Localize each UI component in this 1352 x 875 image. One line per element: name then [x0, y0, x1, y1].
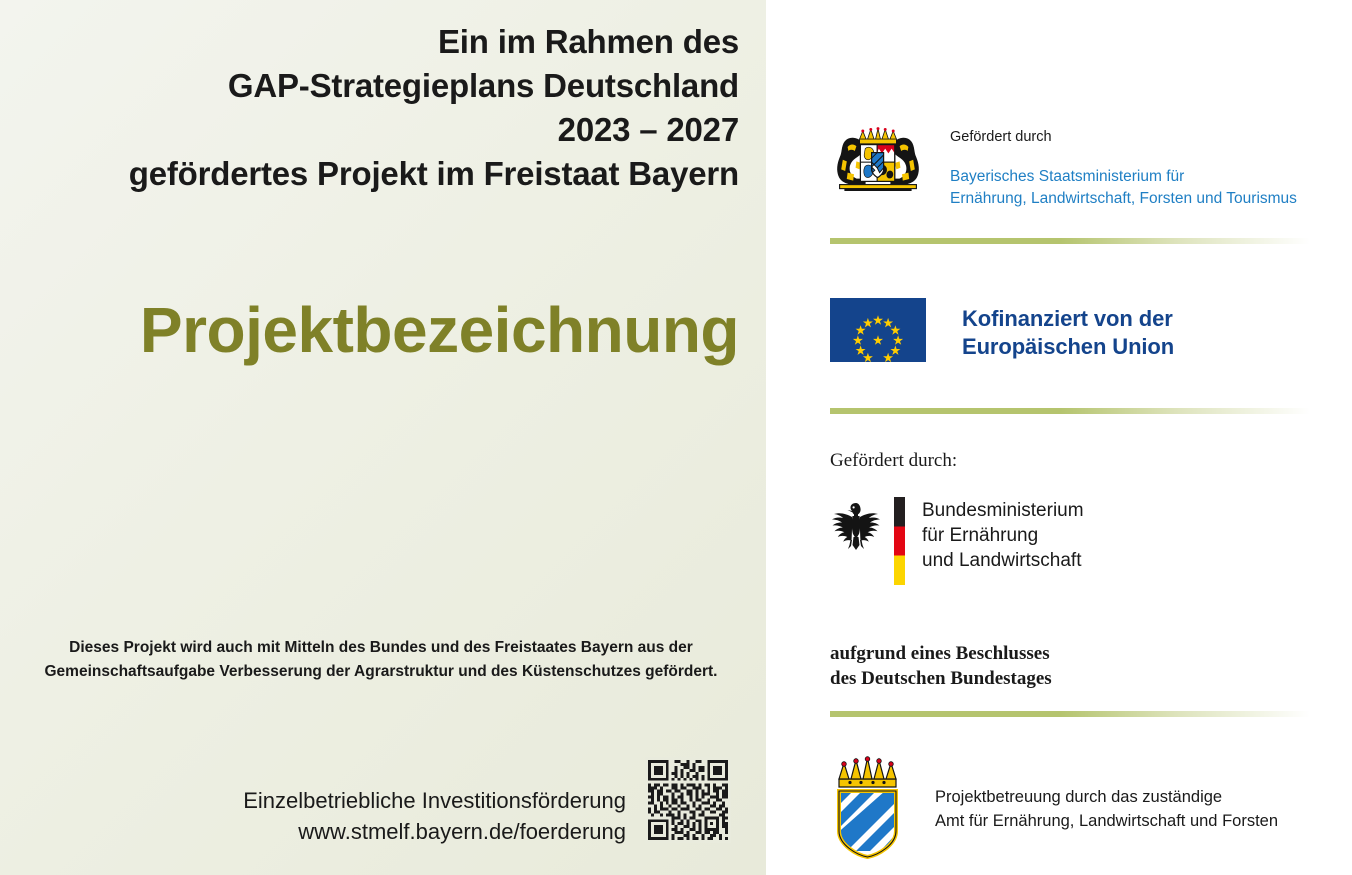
funding-block-stmelf: Gefördert durch Bayerisches Staatsminist… [830, 126, 1297, 210]
german-flag-bar-icon [894, 497, 905, 585]
aelf-text-line-2: Amt für Ernährung, Landwirtschaft und Fo… [935, 810, 1278, 834]
bmel-name: Bundesministerium für Ernährung und Land… [922, 497, 1084, 573]
fineprint-line-2: Gemeinschaftsaufgabe Verbesserung der Ag… [20, 660, 742, 684]
divider-1 [830, 238, 1310, 244]
funding-block-eu: Kofinanziert von der Europäischen Union [830, 298, 1174, 362]
bmel-footnote-line-2: des Deutschen Bundestages [830, 666, 1052, 691]
headline-line-3: 2023 – 2027 [39, 108, 739, 152]
bmel-funded-by-label: Gefördert durch: [830, 450, 957, 472]
divider-2 [830, 408, 1310, 414]
fineprint-line-1: Dieses Projekt wird auch mit Mitteln des… [20, 636, 742, 660]
bmel-name-line-1: Bundesministerium [922, 498, 1084, 523]
stmelf-name-line-1: Bayerisches Staatsministerium für [950, 166, 1297, 188]
bmel-name-line-2: für Ernährung [922, 523, 1084, 548]
stmelf-name-line-2: Ernährung, Landwirtschaft, Forsten und T… [950, 188, 1297, 210]
aelf-text: Projektbetreuung durch das zuständige Am… [935, 786, 1278, 834]
bmel-footnote-line-1: aufgrund eines Beschlusses [830, 641, 1052, 666]
aelf-text-line-1: Projektbetreuung durch das zuständige [935, 786, 1278, 810]
headline: Ein im Rahmen des GAP-Strategieplans Deu… [39, 20, 739, 196]
bayerisches-wappen-icon [830, 755, 905, 864]
headline-line-4: gefördertes Projekt im Freistaat Bayern [39, 152, 739, 196]
poster: Ein im Rahmen des GAP-Strategieplans Deu… [0, 0, 1352, 875]
stmelf-text: Gefördert durch Bayerisches Staatsminist… [950, 126, 1297, 210]
fineprint: Dieses Projekt wird auch mit Mitteln des… [20, 636, 742, 684]
funding-block-bmel: Bundesministerium für Ernährung und Land… [830, 497, 1084, 585]
page-title: Projektbezeichnung [19, 295, 739, 365]
programme-label: Einzelbetriebliche Investitionsförderung [30, 785, 626, 816]
eu-text-line-1: Kofinanziert von der [962, 305, 1174, 333]
bmel-footnote: aufgrund eines Beschlusses des Deutschen… [830, 641, 1052, 691]
funded-by-label: Gefördert durch [950, 129, 1297, 146]
eu-text-line-2: Europäischen Union [962, 333, 1174, 361]
headline-line-1: Ein im Rahmen des [39, 20, 739, 64]
headline-line-2: GAP-Strategieplans Deutschland [39, 64, 739, 108]
eu-flag-icon [830, 298, 926, 362]
bayerisches-staatswappen-icon [830, 126, 926, 197]
eu-text: Kofinanziert von der Europäischen Union [962, 298, 1174, 361]
website-url[interactable]: www.stmelf.bayern.de/foerderung [30, 816, 626, 847]
right-panel: Gefördert durch Bayerisches Staatsminist… [766, 0, 1352, 875]
bundesadler-icon [830, 497, 882, 560]
left-panel: Ein im Rahmen des GAP-Strategieplans Deu… [0, 0, 766, 875]
bmel-name-line-3: und Landwirtschaft [922, 548, 1084, 573]
footer-text: Einzelbetriebliche Investitionsförderung… [30, 785, 626, 847]
stmelf-name: Bayerisches Staatsministerium für Ernähr… [950, 166, 1297, 210]
divider-3 [830, 711, 1310, 717]
qr-code-icon[interactable] [645, 757, 731, 843]
funding-block-aelf: Projektbetreuung durch das zuständige Am… [830, 755, 1278, 864]
